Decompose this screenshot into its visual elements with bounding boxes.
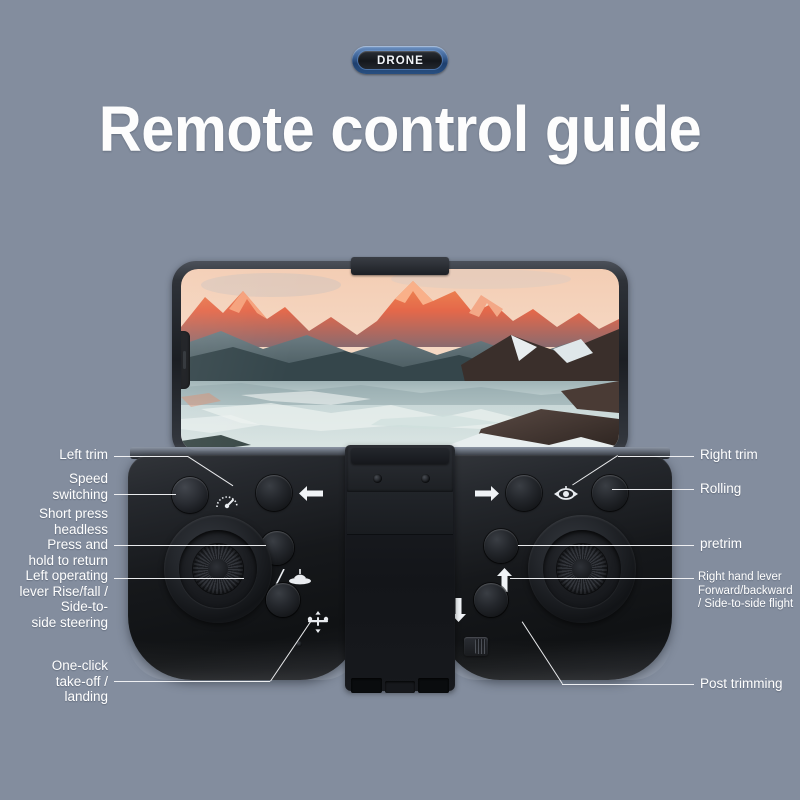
smartphone [172,261,628,459]
holder-foot-mid [385,681,416,693]
holder-foot-left [351,678,382,693]
arrow-left-icon [298,485,324,502]
callout-one-click-takeoff: One-click take-off / landing [0,658,108,705]
rolling-button[interactable] [592,475,628,511]
callout-rolling: Rolling [700,481,800,497]
holder-band [347,492,453,535]
leader-one-click-takeoff [114,681,270,682]
brand-badge-wrapper: DRONE [0,46,800,79]
callout-right-lever: Right hand lever Forward/backward / Side… [698,571,800,612]
left-joystick-ring [179,530,257,608]
left-joystick[interactable] [164,515,272,623]
right-arrow-trim-button[interactable] [506,475,542,511]
speed-switch-knob[interactable] [172,477,208,513]
leader-right-trim [618,456,694,457]
callout-speed-switching: Speed switching [0,471,108,502]
controller-left-body [128,455,360,680]
phone-screen [181,269,619,451]
phone-earpiece-notch [181,331,190,389]
leader-left-lever [114,578,244,579]
takeoff-landing-button[interactable] [266,583,300,617]
phone-clamp-bottom [351,448,449,464]
down-arrow-trim-button[interactable] [474,583,508,617]
callout-left-lever: Left operating lever Rise/fall / Side-to… [0,568,108,630]
page-title: Remote control guide [28,97,772,161]
holder-foot [351,676,449,693]
leader-pretrim [518,545,694,546]
left-arrow-trim-button[interactable] [256,475,292,511]
callout-left-trim: Left trim [0,447,108,463]
pretrim-button[interactable] [484,529,518,563]
holder-screw-right [421,474,430,483]
callout-right-trim: Right trim [700,447,800,463]
speedometer-icon [214,491,240,509]
holder-foot-right [418,678,449,693]
post-trim-slider[interactable] [464,637,488,656]
leader-left-trim [114,456,188,457]
right-joystick-cap[interactable] [557,544,607,594]
leader-right-lever [510,578,694,579]
arrow-right-icon [474,485,500,502]
drone-logo-inner: DRONE [358,51,442,69]
leader-post-trimming [562,684,694,685]
callout-post-trimming: Post trimming [700,676,800,692]
holder-screw-left [373,474,382,483]
leader-speed-switching [114,494,176,495]
left-joystick-cap[interactable] [193,544,243,594]
mountain-lake-photo [181,269,619,451]
phone-holder-column [345,445,455,691]
page-root: DRONE Remote control guide [0,0,800,800]
right-joystick[interactable] [528,515,636,623]
right-joystick-ring [543,530,621,608]
callout-headless-return: Short press headless Press and hold to r… [0,506,108,568]
drone-logo-badge: DRONE [352,46,448,74]
remote-controller [128,455,672,698]
360-flip-icon [552,485,580,503]
leader-rolling [612,489,694,490]
callout-pretrim: pretrim [700,536,800,552]
drone-logo-text: DRONE [377,54,424,66]
leader-headless-return [114,545,266,546]
phone-clamp-top [351,257,449,275]
